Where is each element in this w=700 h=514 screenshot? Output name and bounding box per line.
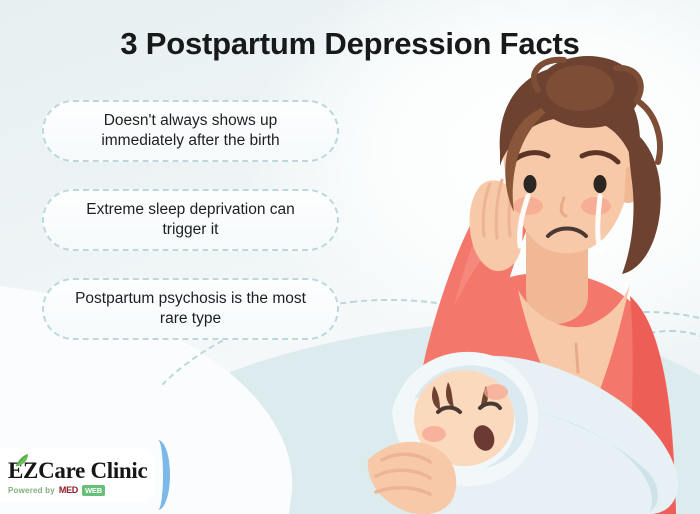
infographic-canvas: 3 Postpartum Depression Facts Doesn't al… [0, 0, 700, 514]
crying-mother-holding-baby-illustration [330, 56, 700, 514]
leaf-icon [14, 452, 30, 468]
logo-tagline: Powered by MED WEB [8, 485, 154, 496]
fact-pill-1: Doesn't always shows up immediately afte… [42, 100, 339, 162]
powered-by-text: Powered by [8, 486, 55, 495]
fact-text: Extreme sleep deprivation can trigger it [66, 200, 315, 241]
brand-web-badge: WEB [82, 485, 105, 496]
fact-pill-2: Extreme sleep deprivation can trigger it [42, 189, 339, 251]
brand-logo[interactable]: EZCare Clinic Powered by MED WEB [0, 448, 154, 502]
fact-text: Postpartum psychosis is the most rare ty… [66, 289, 315, 330]
fact-text: Doesn't always shows up immediately afte… [66, 111, 315, 152]
facts-list: Doesn't always shows up immediately afte… [42, 100, 342, 367]
brand-med-text: MED [59, 485, 78, 495]
fact-pill-3: Postpartum psychosis is the most rare ty… [42, 278, 339, 340]
